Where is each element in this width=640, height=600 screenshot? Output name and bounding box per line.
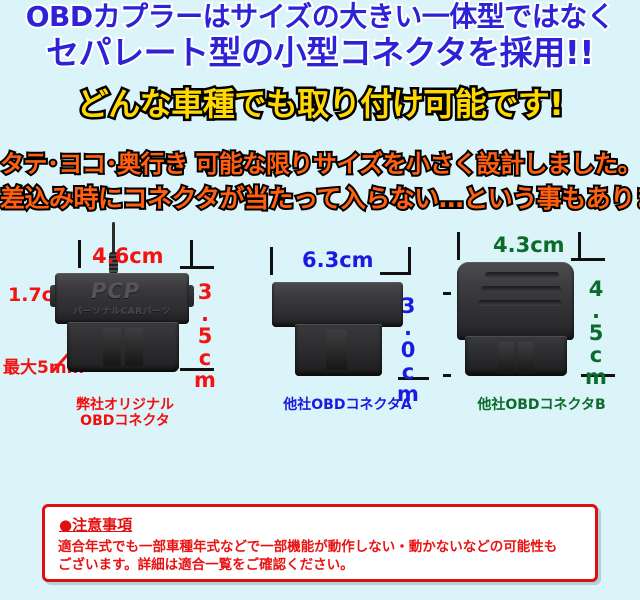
notice-body: 適合年式でも一部車種年式などで一部機能が動作しない・動かないなどの可能性も ござ… (58, 538, 585, 574)
dim-tick-left-top (270, 247, 273, 275)
connector-other-a: 6.3cm 3.0cm 他社OBDコネクタA (250, 222, 445, 477)
headline-line-5: 差込み時にコネクタが当たって入らない…という事もありません! (0, 186, 640, 211)
plug-slot-right (518, 342, 534, 374)
dim-corner-top-right (571, 258, 605, 261)
dim-corner-top-right (380, 272, 411, 275)
dimension-height-own: 3.5cm (194, 280, 215, 390)
caption-own: 弊社オリジナル OBDコネクタ (0, 397, 250, 429)
caption-other-a: 他社OBDコネクタA (250, 397, 445, 413)
plug-slot-left (103, 328, 121, 366)
plug-slot-right (125, 328, 143, 366)
connector-shell-other-b (457, 262, 574, 340)
connector-comparison-diagram: 4.6cm 3.5cm 1.7cm 最大5mm PCP パーソナルCARパーツ … (0, 222, 640, 482)
brand-logo: PCP (91, 279, 140, 303)
dimension-width-other-b: 4.3cm (493, 235, 565, 256)
vent-rib-1 (485, 272, 559, 278)
connector-plug-other-a (295, 324, 382, 376)
promo-banner: OBDカプラーはサイズの大きい一体型ではなく セパレート型の小型コネクタを採用!… (0, 0, 640, 600)
plug-slot (326, 330, 347, 370)
dimension-height-other-b: 4.5cm (585, 277, 606, 387)
headline-line-3: どんな車種でも取り付け可能です! (0, 88, 640, 120)
dim-corner-top-right (180, 266, 214, 269)
connector-shell-own: PCP パーソナルCARパーツ (55, 273, 189, 324)
dim-tick-right-top (190, 240, 193, 268)
connector-shell-other-a (272, 282, 403, 327)
notice-box: ●注意事項 適合年式でも一部車種年式などで一部機能が動作しない・動かないなどの可… (42, 504, 598, 582)
connector-plug-other-b (465, 336, 567, 376)
vent-rib-3 (478, 300, 562, 306)
dim-tick-right-top (408, 247, 411, 275)
dim-tick-left-mid (443, 292, 451, 295)
dim-tick-left-top (457, 232, 460, 260)
connector-other-b: 4.3cm 4.5cm 他社OBDコネクタB (443, 222, 640, 477)
connector-own: 4.6cm 3.5cm 1.7cm 最大5mm PCP パーソナルCARパーツ … (0, 222, 250, 477)
dim-tick-left-bottom (443, 374, 451, 377)
brand-logo-subtitle: パーソナルCARパーツ (73, 304, 171, 317)
dimension-width-own: 4.6cm (92, 246, 164, 267)
vent-rib-2 (481, 286, 561, 292)
dim-tick-right-top (578, 232, 581, 260)
headline-line-4: タテ･ヨコ･奥行き 可能な限りサイズを小さく設計しました。 (0, 152, 640, 176)
caption-other-b: 他社OBDコネクタB (443, 397, 640, 413)
plug-slot-left (498, 342, 514, 374)
notice-title: ●注意事項 (59, 514, 132, 535)
dim-tick-left-top (78, 240, 81, 268)
headline-line-1: OBDカプラーはサイズの大きい一体型ではなく (0, 3, 640, 31)
connector-plug-own (67, 322, 179, 372)
headline-line-2: セパレート型の小型コネクタを採用!! (0, 36, 640, 69)
dimension-width-other-a: 6.3cm (302, 250, 374, 271)
